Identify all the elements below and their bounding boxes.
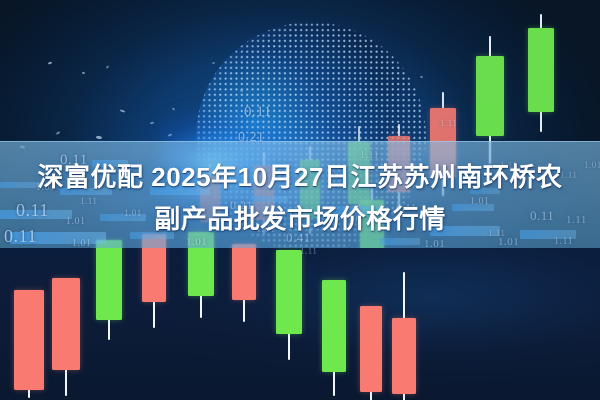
page-title: 深富优配 2025年10月27日江苏苏州南环桥农 副产品批发市场价格行情 [0,156,600,240]
ghost-number: 0.11 [244,104,272,121]
candle-body [232,244,256,300]
candle-body [14,290,44,390]
data-speck [420,76,423,79]
candle-body [96,240,122,320]
candle-body [52,278,80,370]
candle-body [476,56,504,136]
band-top-edge [0,141,600,142]
data-speck [82,72,85,75]
candle-body [322,280,346,372]
ghost-number: 1.11 [300,246,317,256]
candle-body [360,306,382,392]
candle-body [392,318,416,394]
banner-image: 0.110.210.111.111.111.111.011.110.111.01… [0,0,600,400]
candle-body [276,250,302,334]
title-line-2: 副产品批发市场价格行情 [0,198,600,240]
candle-body [528,28,554,112]
title-line-1: 深富优配 2025年10月27日江苏苏州南环桥农 [0,156,600,198]
ghost-number: 1.11 [440,118,457,128]
ghost-number: 0.21 [238,130,265,146]
